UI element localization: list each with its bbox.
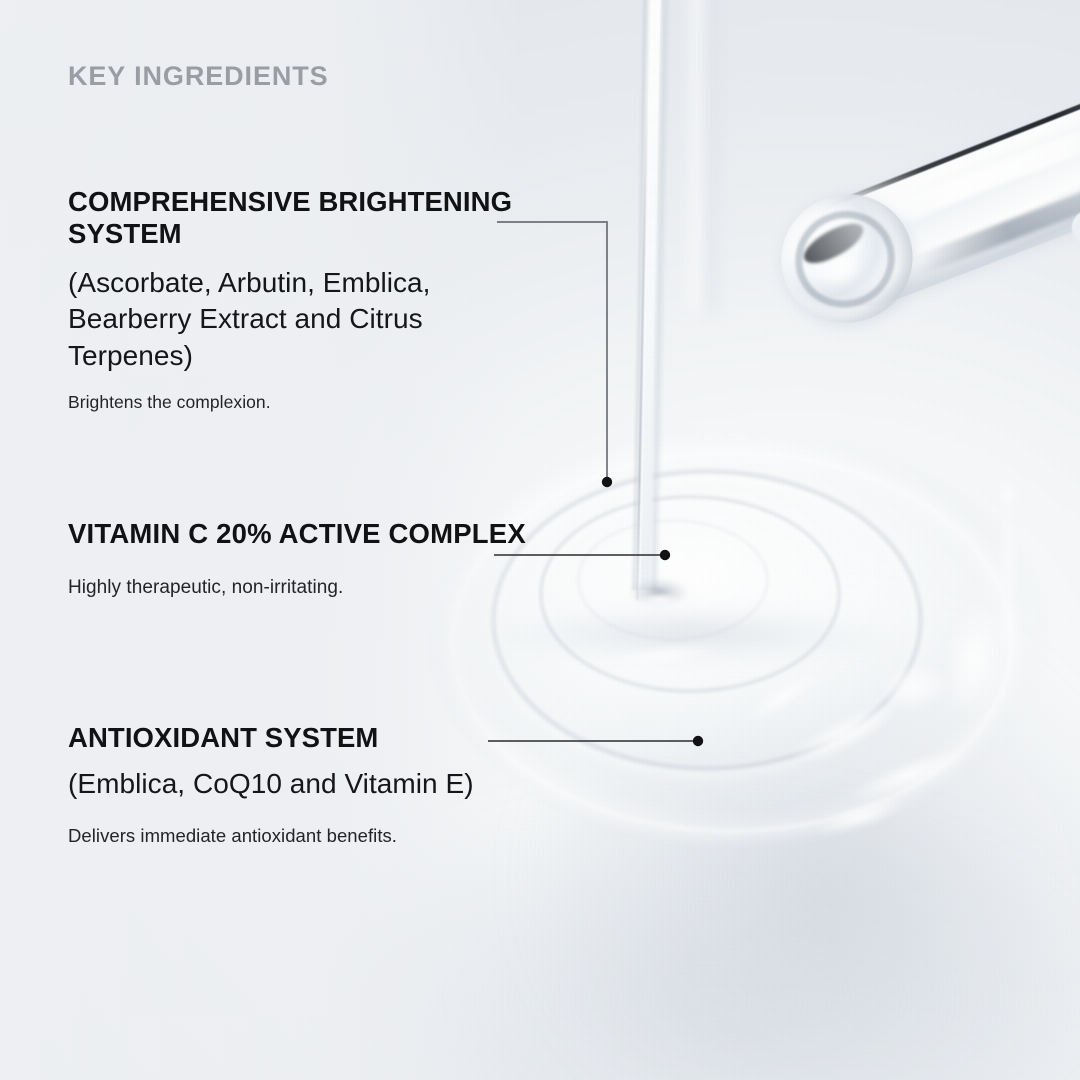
ingredient-description-1: Brightens the complexion. — [68, 391, 538, 415]
ingredient-description-2: Highly therapeutic, non-irritating. — [68, 575, 538, 601]
ingredient-title-3: ANTIOXIDANT SYSTEM — [68, 722, 538, 754]
leader-dot-1 — [602, 477, 612, 487]
ingredient-title-1: COMPREHENSIVE BRIGHTENING SYSTEM — [68, 186, 538, 250]
ingredient-block-1: COMPREHENSIVE BRIGHTENING SYSTEM (Ascorb… — [68, 186, 538, 415]
infographic-canvas: KEY INGREDIENTS COMPREHENSIVE BRIGHTENIN… — [0, 0, 1080, 1080]
page-title: KEY INGREDIENTS — [68, 62, 329, 92]
ingredient-title-2: VITAMIN C 20% ACTIVE COMPLEX — [68, 518, 538, 550]
ingredient-subtitle-1: (Ascorbate, Arbutin, Emblica, Bearberry … — [68, 265, 538, 374]
ingredient-subtitle-3: (Emblica, CoQ10 and Vitamin E) — [68, 766, 538, 802]
ingredients-panel: KEY INGREDIENTS COMPREHENSIVE BRIGHTENIN… — [68, 0, 538, 1080]
leader-dot-2 — [660, 550, 670, 560]
leader-dot-3 — [693, 736, 703, 746]
ingredient-block-3: ANTIOXIDANT SYSTEM (Emblica, CoQ10 and V… — [68, 722, 538, 849]
ingredient-description-3: Delivers immediate antioxidant benefits. — [68, 824, 538, 849]
ingredient-block-2: VITAMIN C 20% ACTIVE COMPLEX Highly ther… — [68, 518, 538, 601]
